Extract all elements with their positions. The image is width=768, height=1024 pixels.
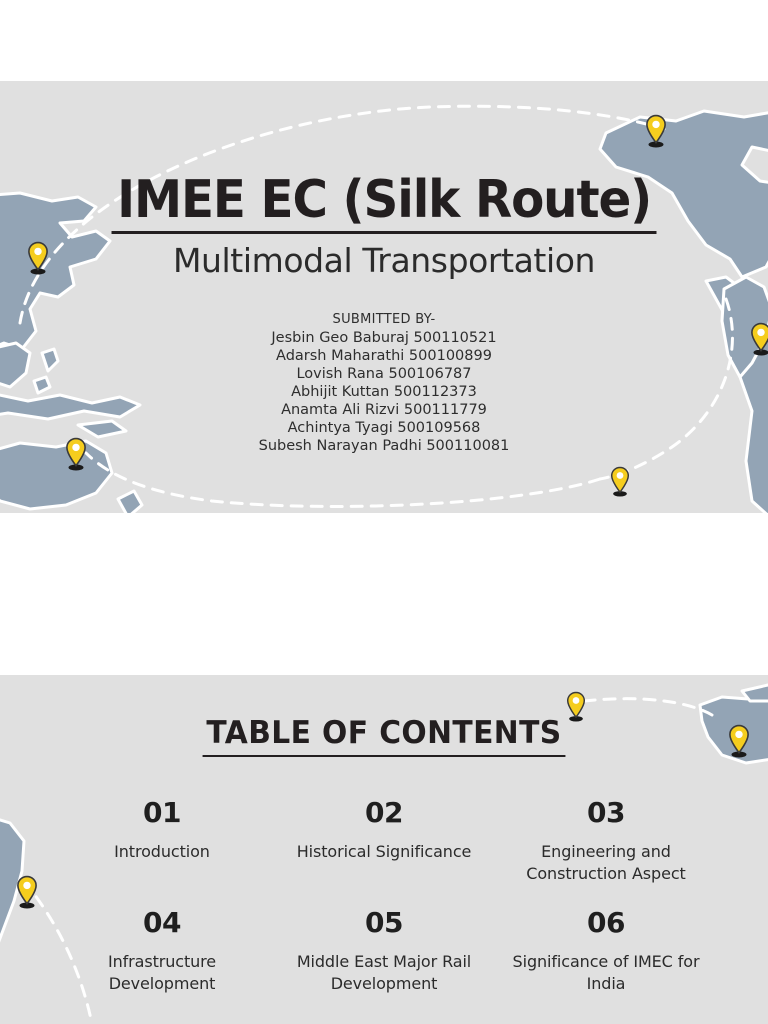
credits-heading: SUBMITTED BY- — [0, 311, 768, 329]
toc-item-02[interactable]: 02 Historical Significance — [278, 797, 490, 885]
toc-label: Significance of IMEC for India — [500, 951, 712, 995]
toc-label: Infrastructure Development — [56, 951, 268, 995]
toc-label: Engineering and Construction Aspect — [500, 841, 712, 885]
toc-grid: 01 Introduction 02 Historical Significan… — [56, 797, 712, 995]
page-title: IMEE EC (Silk Route) — [111, 173, 656, 234]
toc-item-06[interactable]: 06 Significance of IMEC for India — [500, 907, 712, 995]
credit-author: Adarsh Maharathi 500100899 — [0, 347, 768, 365]
credit-author: Jesbin Geo Baburaj 500110521 — [0, 329, 768, 347]
credits-block: SUBMITTED BY- Jesbin Geo Baburaj 5001105… — [0, 311, 768, 455]
toc-label: Middle East Major Rail Development — [278, 951, 490, 995]
toc-item-01[interactable]: 01 Introduction — [56, 797, 268, 885]
table-of-contents-slide: TABLE OF CONTENTS 01 Introduction 02 His… — [0, 675, 768, 1024]
title-block: IMEE EC (Silk Route) Multimodal Transpor… — [0, 173, 768, 279]
map-pin-icon — [644, 114, 668, 153]
page-subtitle: Multimodal Transportation — [0, 243, 768, 279]
title-slide: IMEE EC (Silk Route) Multimodal Transpor… — [0, 81, 768, 513]
credit-author: Abhijit Kuttan 500112373 — [0, 383, 768, 401]
toc-number: 02 — [278, 797, 490, 829]
toc-label: Historical Significance — [278, 841, 490, 863]
toc-number: 06 — [500, 907, 712, 939]
toc-item-03[interactable]: 03 Engineering and Construction Aspect — [500, 797, 712, 885]
toc-number: 05 — [278, 907, 490, 939]
credit-author: Anamta Ali Rizvi 500111779 — [0, 401, 768, 419]
credit-author: Subesh Narayan Padhi 500110081 — [0, 437, 768, 455]
toc-number: 01 — [56, 797, 268, 829]
credit-author: Lovish Rana 500106787 — [0, 365, 768, 383]
toc-item-05[interactable]: 05 Middle East Major Rail Development — [278, 907, 490, 995]
toc-item-04[interactable]: 04 Infrastructure Development — [56, 907, 268, 995]
toc-heading: TABLE OF CONTENTS — [203, 715, 566, 757]
toc-heading-wrap: TABLE OF CONTENTS — [0, 715, 768, 757]
toc-number: 03 — [500, 797, 712, 829]
toc-label: Introduction — [56, 841, 268, 863]
credit-author: Achintya Tyagi 500109568 — [0, 419, 768, 437]
document-page: IMEE EC (Silk Route) Multimodal Transpor… — [0, 0, 768, 1024]
map-pin-icon — [15, 875, 39, 914]
toc-number: 04 — [56, 907, 268, 939]
map-pin-icon — [609, 466, 631, 502]
